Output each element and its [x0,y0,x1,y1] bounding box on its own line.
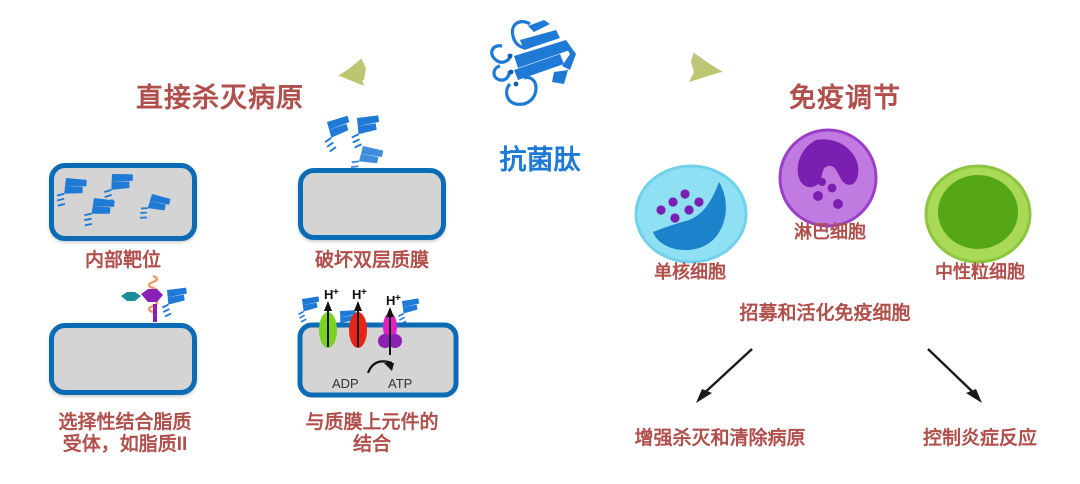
svg-text:ATP: ATP [388,376,412,391]
svg-text:+: + [361,287,367,298]
panel-label-lipid-receptor: 选择性结合脂质 受体，如脂质II [20,412,230,457]
svg-text:H: H [386,293,395,308]
neutrophil-cell-icon [924,162,1032,266]
svg-text:+: + [333,287,339,298]
diagram-canvas: 抗菌肽 [0,0,1080,484]
outcome-arrow-left [690,345,760,407]
cell-label-neutrophil: 中性粒细胞 [910,262,1050,283]
monocyte-cell-icon [633,162,749,266]
heading-direct-killing: 直接杀灭病原 [95,76,345,115]
bacterium-lipid-receptor-icon [49,323,197,395]
svg-text:H: H [324,287,333,302]
bacterium-disrupted-membrane-icon [298,168,446,240]
cell-label-lymphocyte: 淋巴细胞 [760,222,900,243]
heading-immunomodulation: 免疫调节 [745,76,945,115]
membrane-channels-atp-synthase-icon: H + H + H + [298,285,458,395]
bacterium-with-internal-peptides-icon [49,163,197,241]
center-label-antimicrobial-peptide: 抗菌肽 [440,138,640,177]
branch-arrow-left [320,18,490,90]
antimicrobial-peptide-ribbon-icon [480,10,600,120]
svg-text:H: H [352,287,361,302]
cell-label-monocyte: 单核细胞 [625,262,755,283]
outcome-arrow-right [920,345,990,407]
branch-arrow-right [585,22,735,92]
panel-label-membrane-components: 与质膜上元件的 结合 [272,412,472,457]
outcome-label-control-inflammation: 控制炎症反应 [890,428,1070,450]
action-label-recruit-activate: 招募和活化免疫细胞 [680,303,970,325]
panel-label-membrane-disruption: 破坏双层质膜 [282,250,462,272]
lymphocyte-cell-icon [776,126,880,230]
panel-label-internal-targets: 内部靶位 [33,250,213,272]
outcome-label-enhance-killing: 增强杀灭和清除病原 [585,428,855,450]
svg-text:ADP: ADP [332,376,359,391]
svg-text:+: + [395,293,401,304]
